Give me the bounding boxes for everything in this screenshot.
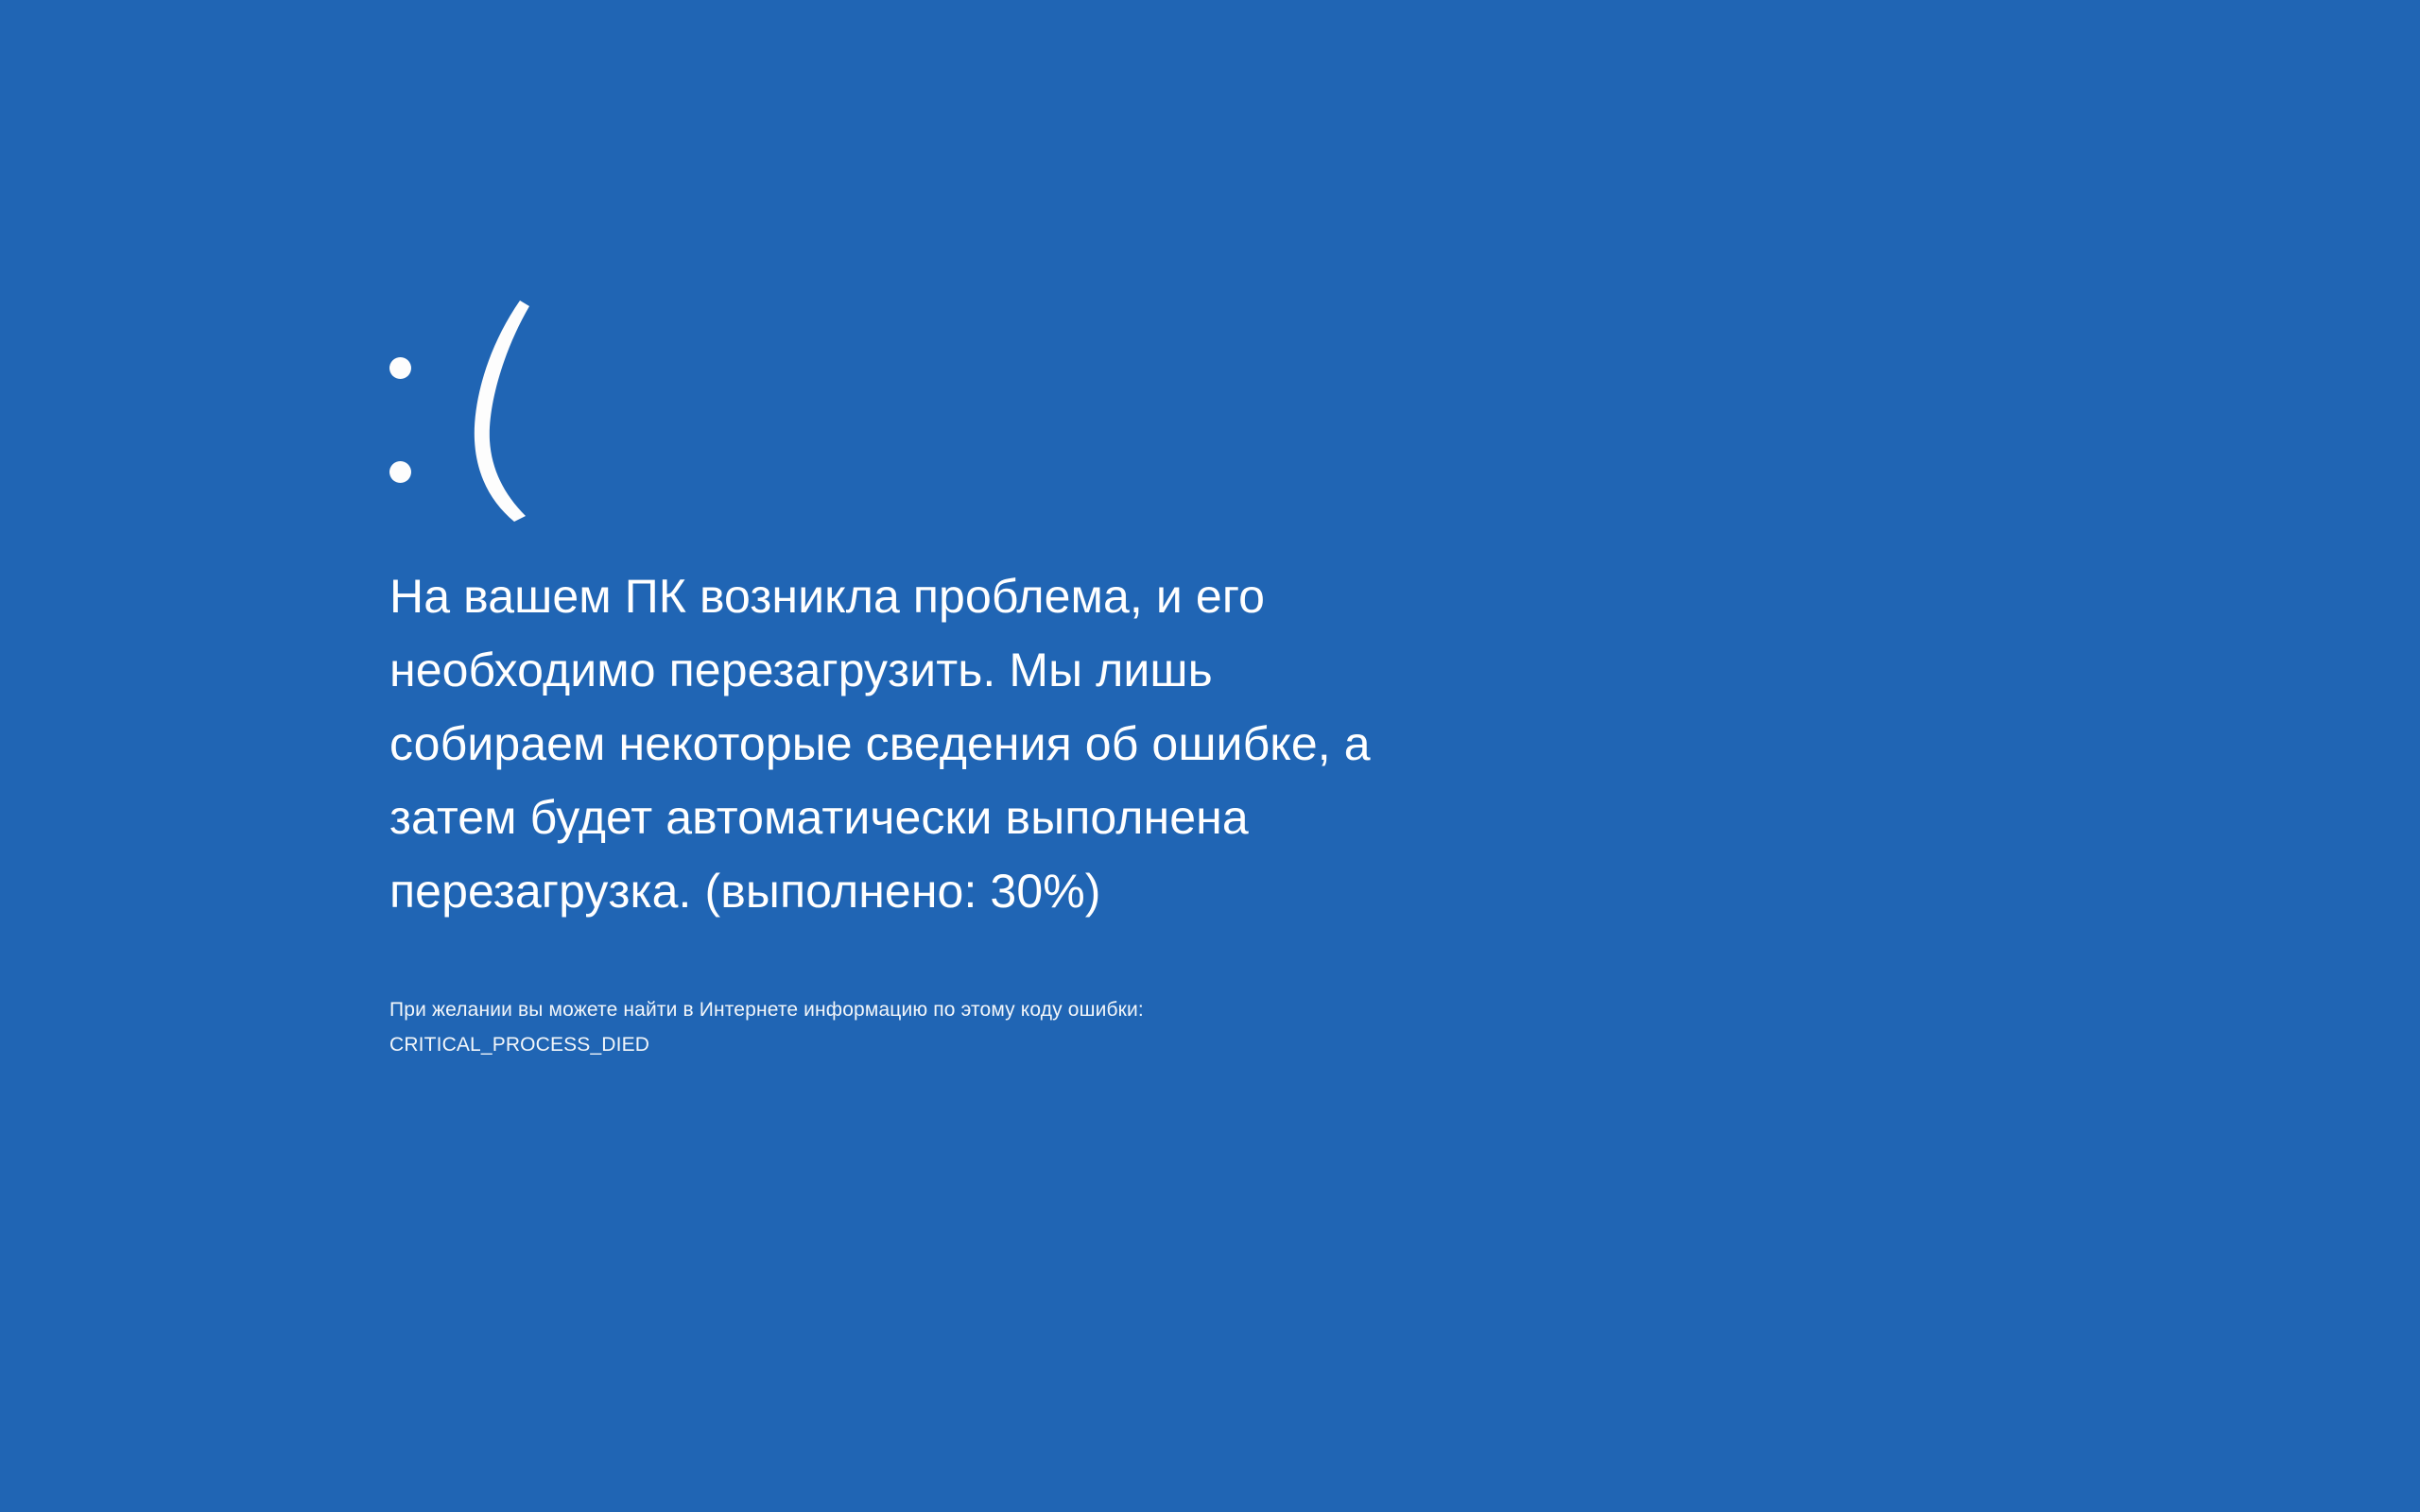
bsod-message-line: На вашем ПК возникла проблема, и его xyxy=(389,559,1429,633)
sad-face-mouth-icon xyxy=(463,299,529,524)
sad-face-eye-upper xyxy=(389,357,411,379)
bsod-stop-code: CRITICAL_PROCESS_DIED xyxy=(389,1027,1807,1062)
bsod-screen: На вашем ПК возникла проблема, и его нео… xyxy=(0,0,2420,1512)
bsod-message-line: собираем некоторые сведения об ошибке, а xyxy=(389,707,1429,781)
bsod-info-hint: При желании вы можете найти в Интернете … xyxy=(389,992,1807,1027)
bsod-content: На вашем ПК возникла проблема, и его нео… xyxy=(389,265,1807,1062)
bsod-message-line: затем будет автоматически выполнена xyxy=(389,781,1429,854)
bsod-message: На вашем ПК возникла проблема, и его нео… xyxy=(389,559,1429,928)
bsod-message-progress-line: перезагрузка. (выполнено: 30%) xyxy=(389,854,1429,928)
sad-face-eye-lower xyxy=(389,461,411,483)
bsod-message-line: необходимо перезагрузить. Мы лишь xyxy=(389,633,1429,707)
sad-face-icon xyxy=(389,265,692,548)
bsod-info-block: При желании вы можете найти в Интернете … xyxy=(389,992,1807,1062)
